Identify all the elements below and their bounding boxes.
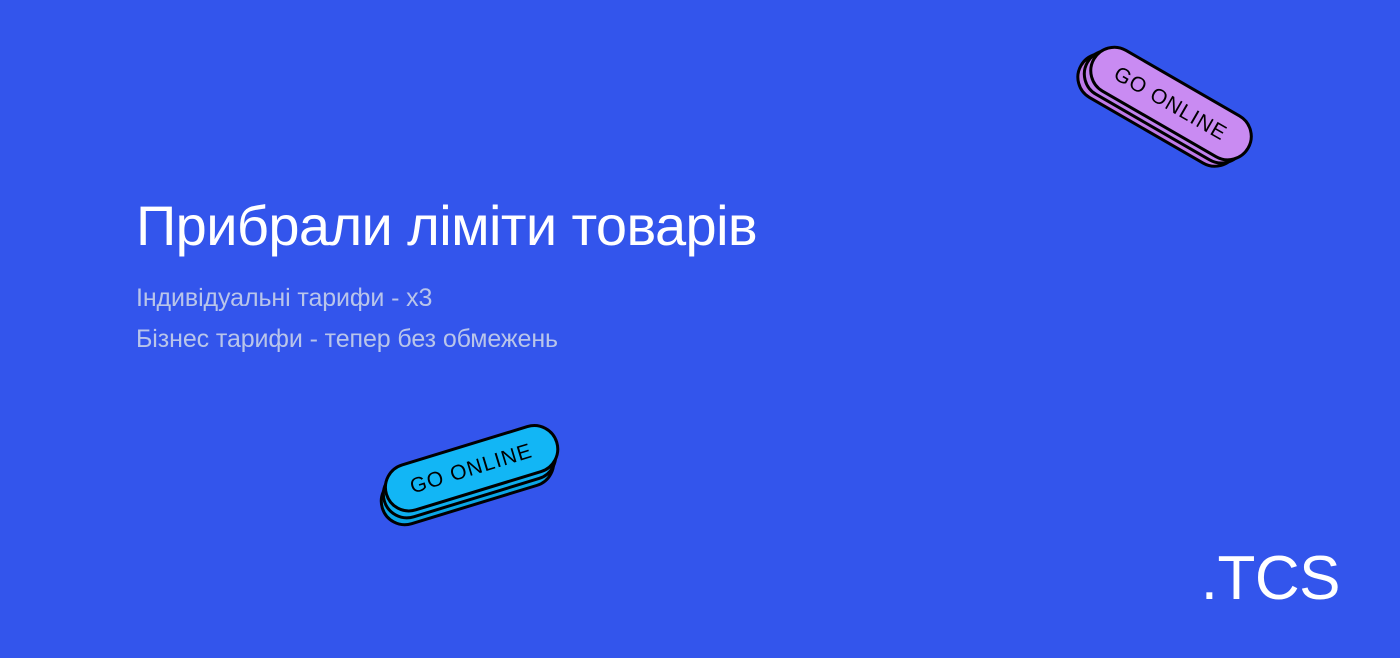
go-online-badge-pink[interactable]: GO ONLINE	[1065, 29, 1265, 185]
promo-banner: Прибрали ліміти товарів Індивідуальні та…	[0, 0, 1400, 658]
go-online-badge-cyan[interactable]: GO ONLINE	[369, 414, 571, 536]
subtitle-line-2: Бізнес тарифи - тепер без обмежень	[136, 319, 956, 360]
subtitle-list: Індивідуальні тарифи - х3 Бізнес тарифи …	[136, 278, 956, 360]
page-title: Прибрали ліміти товарів	[136, 196, 956, 256]
brand-logo: .TCS	[1201, 548, 1340, 610]
copy-block: Прибрали ліміти товарів Індивідуальні та…	[136, 196, 956, 360]
subtitle-line-1: Індивідуальні тарифи - х3	[136, 278, 956, 319]
